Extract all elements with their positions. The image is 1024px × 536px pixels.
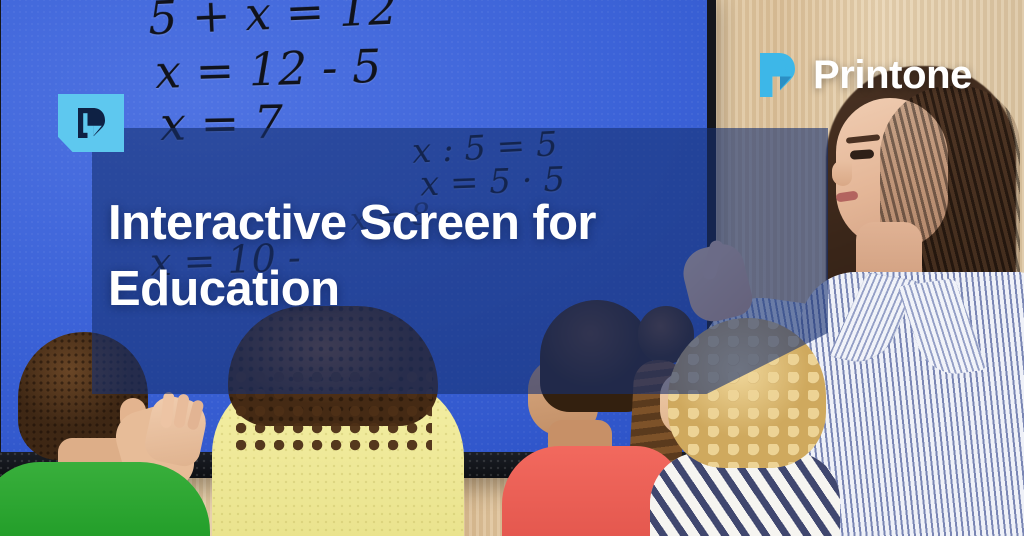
student-shirt	[0, 462, 210, 536]
brand-lockup: Printone	[757, 50, 972, 100]
page-title: Interactive Screen for Education	[108, 190, 728, 322]
teacher-eye	[850, 149, 875, 160]
teacher-nose	[832, 160, 852, 186]
printone-p-badge-icon	[76, 106, 106, 140]
interactive-screen-education-banner: 5 + x = 12 x = 12 - 5 x = 7 x : 5 = 5 x …	[0, 0, 1024, 536]
printone-p-logo-icon	[757, 50, 797, 100]
headline-line-1: Interactive Screen for	[108, 196, 596, 250]
printone-badge	[58, 94, 124, 152]
brand-name: Printone	[813, 55, 972, 95]
headline-line-2: Education	[108, 256, 728, 322]
